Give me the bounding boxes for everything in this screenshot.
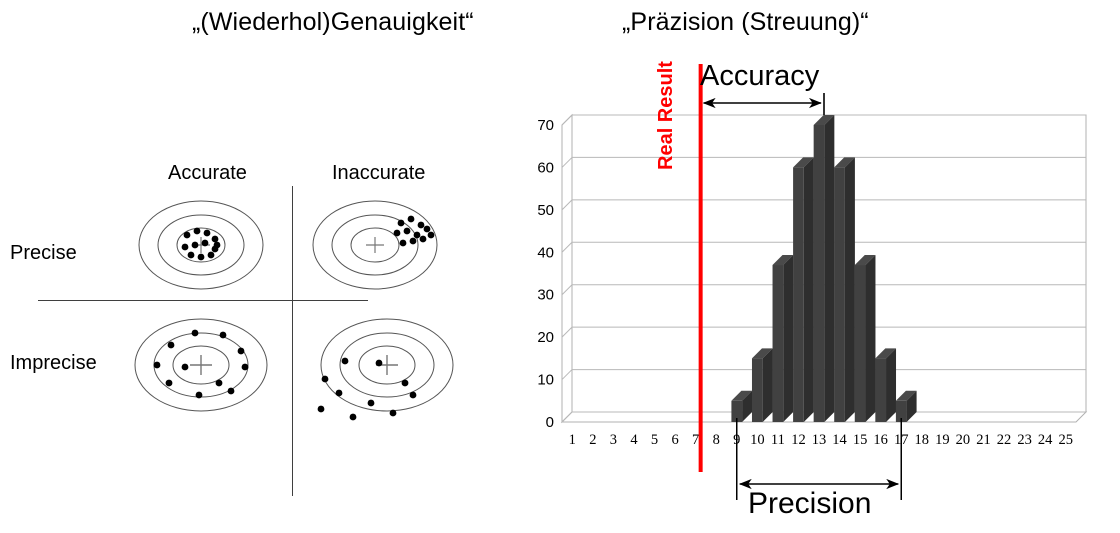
bar-side-face — [845, 157, 855, 422]
heading-left: „(Wiederhol)Genauigkeit“ — [192, 8, 474, 37]
precision-histogram-chart: 0102030405060701234567891011121314151617… — [516, 60, 1120, 480]
x-axis-tick-label: 22 — [997, 432, 1012, 448]
x-axis-tick-label: 13 — [812, 432, 827, 448]
crosshair-icon — [366, 237, 384, 253]
chart-plot-area: 0102030405060701234567891011121314151617… — [516, 60, 1120, 480]
x-axis-tick-label: 14 — [832, 432, 847, 448]
precision-annotation-label: Precision — [748, 487, 871, 521]
target-inaccurate-precise — [300, 195, 460, 295]
histogram-bar — [834, 157, 855, 422]
row-label-imprecise: Imprecise — [10, 352, 97, 375]
histogram-bar — [814, 115, 835, 422]
x-axis-tick-label: 2 — [589, 432, 596, 448]
histogram-bar — [855, 255, 876, 422]
x-axis-tick-label: 11 — [771, 432, 785, 448]
target-accurate-precise — [126, 195, 276, 295]
bar-side-face — [865, 255, 875, 422]
dot-cluster — [394, 216, 435, 247]
x-axis-tick-label: 20 — [956, 432, 971, 448]
heading-right: „Präzision (Streuung)“ — [622, 8, 869, 37]
x-axis-tick-label: 6 — [671, 432, 678, 448]
y-axis-tick-label: 30 — [537, 287, 554, 304]
target-accurate-imprecise — [126, 310, 276, 420]
x-axis-tick-label: 24 — [1038, 432, 1053, 448]
x-axis-tick-label: 12 — [791, 432, 806, 448]
bar-front-face — [855, 265, 866, 422]
x-axis-tick-label: 23 — [1017, 432, 1032, 448]
slide-canvas: „(Wiederhol)Genauigkeit“ „Präzision (Str… — [0, 0, 1120, 533]
bar-side-face — [886, 348, 896, 422]
x-axis-tick-label: 25 — [1058, 432, 1073, 448]
y-axis-tick-label: 40 — [537, 244, 554, 261]
y-axis-tick-label: 10 — [537, 372, 554, 389]
x-axis-tick-label: 18 — [915, 432, 930, 448]
bar-front-face — [834, 167, 845, 422]
chart-side-wall — [562, 115, 572, 422]
matrix-horizontal-divider — [38, 300, 368, 301]
accuracy-annotation-label: Accuracy — [700, 60, 819, 93]
x-axis-tick-label: 7 — [692, 432, 699, 448]
x-axis-tick-label: 5 — [651, 432, 658, 448]
column-label-inaccurate: Inaccurate — [332, 162, 425, 185]
bar-side-face — [824, 115, 834, 422]
column-label-accurate: Accurate — [168, 162, 247, 185]
x-axis-tick-label: 4 — [630, 432, 638, 448]
accuracy-precision-matrix: Accurate Inaccurate Precise Imprecise — [0, 60, 500, 480]
bar-side-face — [804, 157, 814, 422]
x-axis-tick-label: 16 — [873, 432, 888, 448]
x-axis-tick-label: 15 — [853, 432, 868, 448]
x-axis-tick-label: 21 — [976, 432, 991, 448]
target-inaccurate-imprecise — [302, 310, 477, 435]
histogram-bar — [752, 348, 773, 422]
histogram-bar — [793, 157, 814, 422]
x-axis-tick-label: 3 — [610, 432, 617, 448]
histogram-bar — [875, 348, 896, 422]
bar-side-face — [763, 348, 773, 422]
bar-front-face — [875, 358, 886, 422]
x-axis-tick-label: 1 — [569, 432, 576, 448]
bar-front-face — [814, 125, 825, 422]
real-result-annotation-label: Real Result — [655, 61, 678, 170]
x-axis-tick-label: 10 — [750, 432, 765, 448]
y-axis-tick-label: 20 — [537, 329, 554, 346]
bar-front-face — [793, 167, 804, 422]
dot-cluster — [318, 358, 417, 421]
y-axis-tick-label: 50 — [537, 202, 554, 219]
crosshair-icon — [190, 355, 212, 375]
bar-front-face — [752, 358, 763, 422]
y-axis-tick-label: 0 — [546, 414, 554, 431]
x-axis-tick-label: 8 — [713, 432, 720, 448]
bar-side-face — [783, 255, 793, 422]
y-axis-tick-label: 60 — [537, 159, 554, 176]
x-axis-tick-label: 19 — [935, 432, 950, 448]
bar-front-face — [773, 265, 784, 422]
y-axis-tick-label: 70 — [537, 117, 554, 134]
row-label-precise: Precise — [10, 242, 77, 265]
histogram-bar — [773, 255, 794, 422]
matrix-vertical-divider — [292, 186, 293, 496]
